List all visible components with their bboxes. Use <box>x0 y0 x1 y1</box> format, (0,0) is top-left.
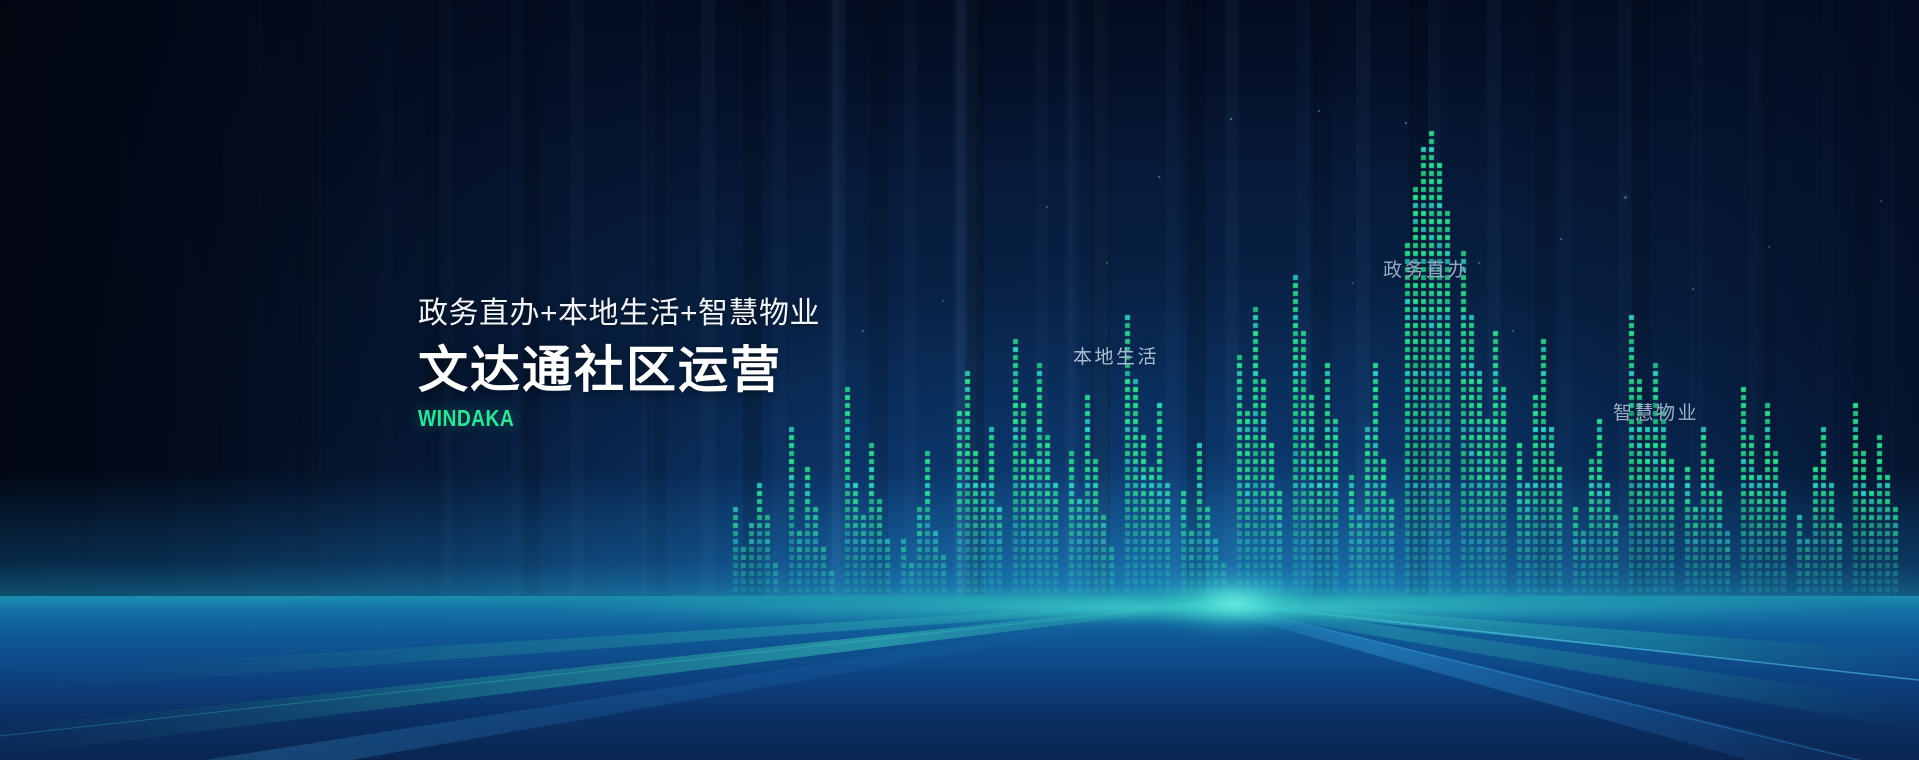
hero-banner: 政务直办 本地生活 智慧物业 政务直办+本地生活+智慧物业 文达通社区运营 WI… <box>0 0 1919 760</box>
banner-title: 文达通社区运营 <box>418 342 1038 398</box>
horizon-glow-band <box>0 588 1919 622</box>
brand-wordmark: WINDAKA <box>418 405 939 432</box>
skyline-label-bendi: 本地生活 <box>1073 342 1159 369</box>
headline-block: 政务直办+本地生活+智慧物业 文达通社区运营 WINDAKA <box>418 295 1038 432</box>
banner-subtitle: 政务直办+本地生活+智慧物业 <box>418 295 1038 333</box>
skyline-label-zhihui: 智慧物业 <box>1613 398 1699 425</box>
vanishing-point-glow <box>1110 556 1360 648</box>
skyline-label-zhengwu: 政务直办 <box>1383 255 1469 282</box>
